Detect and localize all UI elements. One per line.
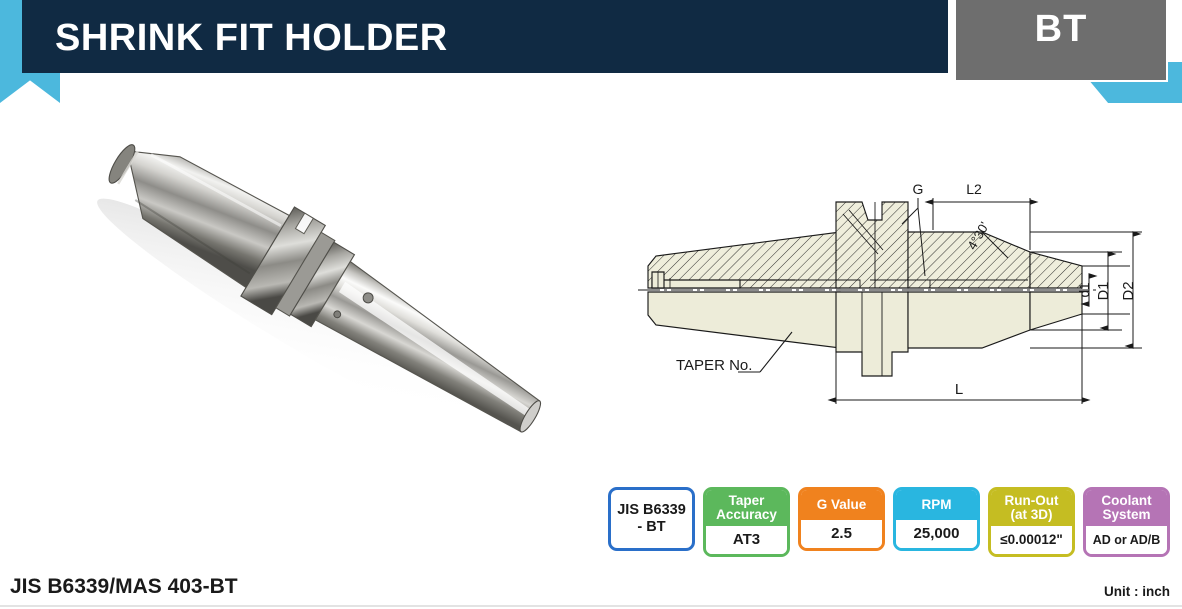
v-flange-lower [836,292,908,376]
taper-type-badge-label: BT [956,8,1166,51]
spec-coolant-value: AD or AD/B [1086,526,1167,554]
dim-label-d1-large: D1 [1096,282,1112,301]
spec-standard-line1: JIS B6339 [617,502,686,519]
spec-badge-standard-title: JIS B6339 - BT [617,502,686,536]
spec-run-out-head: Run-Out (at 3D) [991,490,1072,526]
spec-badge-run-out: Run-Out (at 3D) ≤0.00012" [988,487,1075,557]
body-lower [908,292,1030,348]
spec-badge-taper-accuracy: Taper Accuracy AT3 [703,487,790,557]
spec-badge-coolant-system: Coolant System AD or AD/B [1083,487,1170,557]
product-photo [42,122,602,472]
spec-coolant-head: Coolant System [1086,490,1167,526]
dim-label-g: G [913,181,924,197]
dim-label-d2: D2 [1120,281,1137,300]
footer-unit-label: Unit : inch [1104,584,1170,599]
v-flange-section [836,202,908,288]
spec-taper-accuracy-line2: Accuracy [716,508,777,522]
spec-taper-accuracy-head: Taper Accuracy [706,490,787,526]
spec-run-out-value: ≤0.00012" [991,526,1072,554]
spec-run-out-line1: Run-Out [1005,494,1059,508]
spec-badge-rpm: RPM 25,000 [893,487,980,551]
spec-taper-accuracy-line1: Taper [729,494,765,508]
footer-standard-label: JIS B6339/MAS 403-BT [10,575,238,599]
page-title: SHRINK FIT HOLDER [55,10,448,66]
spec-taper-accuracy-value: AT3 [706,526,787,554]
dim-label-l: L [955,381,963,398]
spec-badge-standard: JIS B6339 - BT [608,487,695,551]
taper-type-badge: BT [954,0,1168,82]
taper-shank-lower [648,292,840,348]
spec-coolant-line2: System [1102,508,1150,522]
spec-g-value-value: 2.5 [801,520,882,548]
spec-g-value-line1: G Value [817,498,867,512]
dim-label-l2: L2 [966,181,982,197]
spec-badge-row: JIS B6339 - BT Taper Accuracy AT3 G Valu… [608,487,1170,557]
footer-divider [0,605,1182,607]
dim-label-d1-small: d1 [1077,282,1092,297]
spec-standard-line2: - BT [617,519,686,536]
spec-g-value-head: G Value [801,490,882,520]
spec-rpm-value: 25,000 [896,520,977,548]
page-header: SHRINK FIT HOLDER BT [0,0,1182,110]
nose-section [1030,252,1082,288]
spec-rpm-head: RPM [896,490,977,520]
spec-run-out-line2: (at 3D) [1010,508,1052,522]
spec-badge-g-value: G Value 2.5 [798,487,885,551]
nose-lower [1030,292,1082,330]
spec-rpm-line1: RPM [922,498,952,512]
dim-label-taper-no: TAPER No. [676,357,752,374]
spec-coolant-line1: Coolant [1101,494,1151,508]
technical-drawing: L2 G 4°30' d1 D1 D2 L TAPER No. [630,180,1170,420]
